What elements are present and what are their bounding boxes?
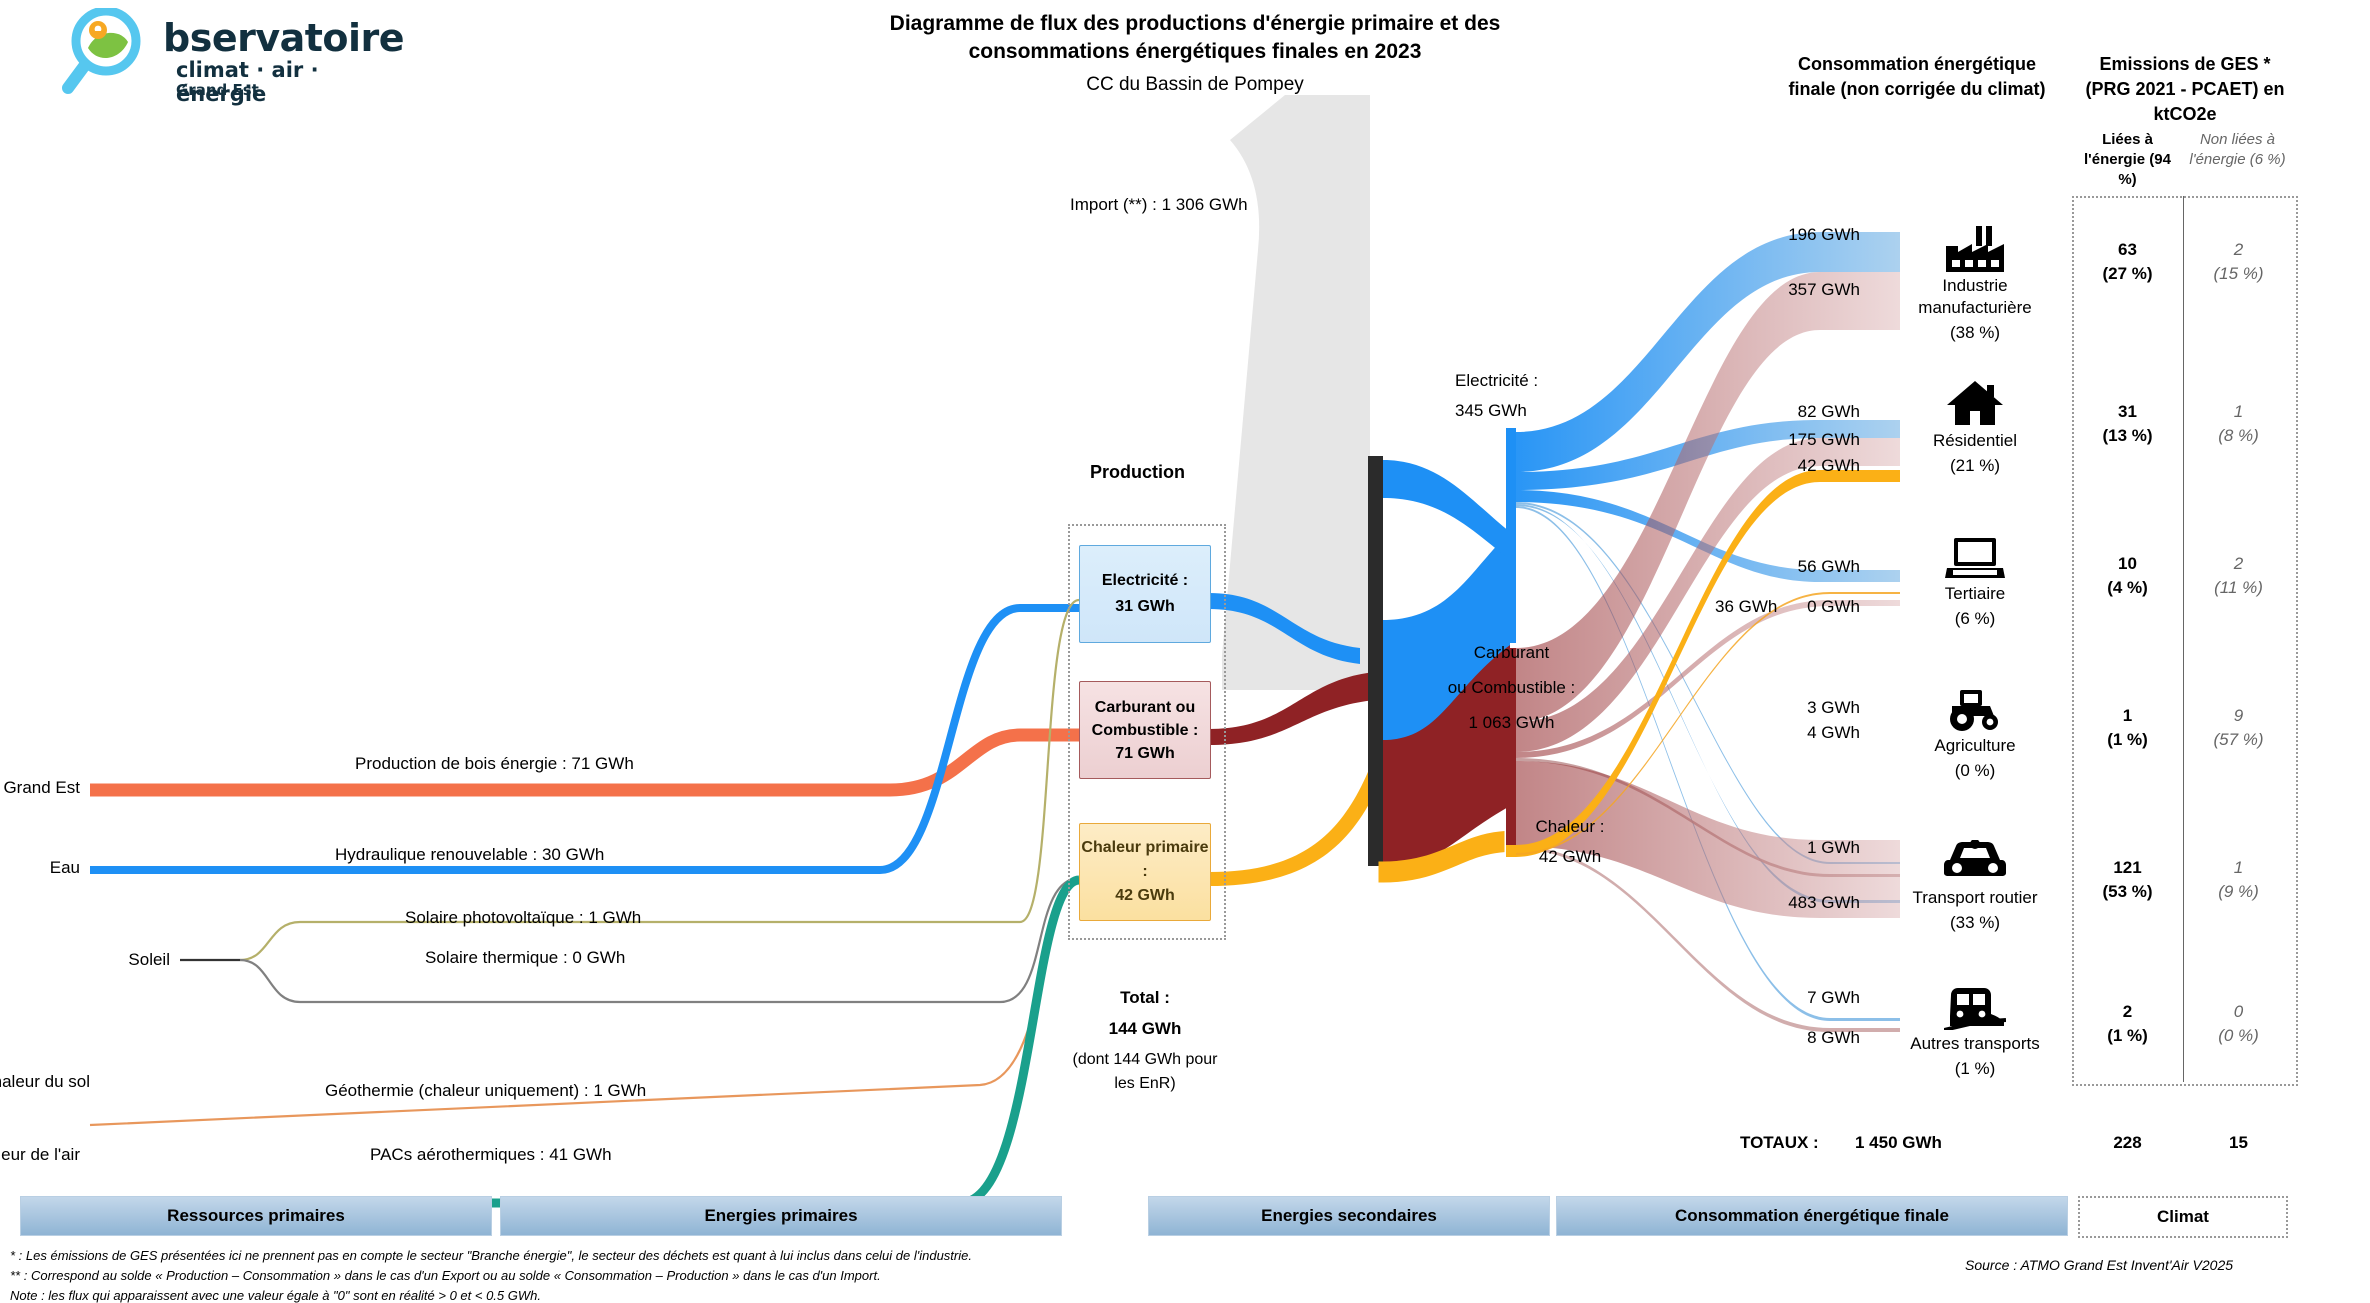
magnifier-logo-icon [58,8,158,100]
footnote-3: Note : les flux qui apparaissent avec un… [10,1288,541,1303]
value-tertiaire-chaleur: 0 GWh [1700,597,1860,617]
source-label-soleil: Soleil [0,950,170,970]
flow-label-solaire-thermique: Solaire thermique : 0 GWh [425,948,625,968]
ges-nonenergy-transport: 1 (9 %) [2186,856,2291,904]
ges-energy-industrie-value: 63 [2075,238,2180,262]
ges-energy-industrie-pct: (27 %) [2075,262,2180,286]
totaux-ges-energy: 228 [2075,1133,2180,1153]
ges-nonenergy-transport-value: 1 [2186,856,2291,880]
ges-nonenergy-agriculture-value: 9 [2186,704,2291,728]
sector-transport-routier-share: (33 %) [1895,912,2055,934]
value-residentiel-electricite: 82 GWh [1700,402,1860,422]
secondary-axis-bar [1368,456,1383,866]
ges-nonenergy-autres-pct: (0 %) [2186,1024,2291,1048]
ges-nonenergy-tertiaire: 2 (11 %) [2186,552,2291,600]
ges-nonenergy-tertiaire-pct: (11 %) [2186,576,2291,600]
secondary-carburant-value: 1 063 GWh [1404,705,1619,740]
value-autres-carburant: 8 GWh [1700,1028,1860,1048]
ges-nonenergy-agriculture: 9 (57 %) [2186,704,2291,752]
ges-nonenergy-agriculture-pct: (57 %) [2186,728,2291,752]
ges-nonenergy-residentiel-value: 1 [2186,400,2291,424]
ges-energy-agriculture: 1 (1 %) [2075,704,2180,752]
production-total: Total : 144 GWh (dont 144 GWh pour les E… [1065,982,1225,1096]
secondary-node-electricite-label: Electricité : 345 GWh [1455,366,1625,426]
ges-energy-tertiaire-pct: (4 %) [2075,576,2180,600]
production-box-chaleur-value: 42 GWh [1115,884,1175,908]
page-title: Diagramme de flux des productions d'éner… [885,10,1505,66]
ges-energy-tertiaire-value: 10 [2075,552,2180,576]
ges-energy-transport-value: 121 [2075,856,2180,880]
sector-autres-transports: Autres transports (1 %) [1895,978,2055,1080]
ges-energy-residentiel: 31 (13 %) [2075,400,2180,448]
ges-nonenergy-transport-pct: (9 %) [2186,880,2291,904]
totaux-energy-value: 1 450 GWh [1855,1133,1942,1153]
secondary-carburant-name2: ou Combustible : [1404,670,1619,705]
train-icon [1895,978,2055,1030]
value-residentiel-chaleur: 42 GWh [1700,456,1860,476]
flow-label-bois: Production de bois énergie : 71 GWh [355,754,634,774]
logo-region: Grand Est [176,81,259,99]
link-elec-autres [1516,506,1900,1021]
secondary-chaleur-name: Chaleur : [1490,812,1650,842]
ges-nonenergy-residentiel: 1 (8 %) [2186,400,2291,448]
legend-ressources-primaires[interactable]: Ressources primaires [20,1196,492,1236]
production-box-carburant-value: 71 GWh [1115,742,1175,765]
production-box-chaleur-label: Chaleur primaire : [1080,836,1210,884]
ges-table-divider [2183,196,2184,1082]
value-agriculture-electricite: 3 GWh [1700,698,1860,718]
production-box-carburant-label: Carburant ou Combustible : [1080,696,1210,742]
ges-table-border [2072,196,2298,1086]
legend-climat[interactable]: Climat [2078,1196,2288,1238]
flow-solaire-pv [240,600,1079,960]
factory-icon [1895,220,2055,272]
sector-agriculture-share: (0 %) [1895,760,2055,782]
ges-energy-residentiel-pct: (13 %) [2075,424,2180,448]
secondary-electricite-name: Electricité : [1455,366,1625,396]
ges-energy-industrie: 63 (27 %) [2075,238,2180,286]
production-box-electricite: Electricité : 31 GWh [1079,545,1211,643]
footnote-2: ** : Correspond au solde « Production – … [10,1268,881,1283]
value-autres-electricite: 7 GWh [1700,988,1860,1008]
footnote-1: * : Les émissions de GES présentées ici … [10,1248,972,1263]
value-agriculture-carburant: 4 GWh [1700,723,1860,743]
ges-energy-transport-pct: (53 %) [2075,880,2180,904]
import-label: Import (**) : 1 306 GWh [1070,195,1248,215]
value-industrie-electricite: 196 GWh [1700,225,1860,245]
production-title: Production [1090,462,1185,483]
value-residentiel-carburant: 175 GWh [1700,430,1860,450]
logo: bservatoire climat · air · énergie Grand… [58,8,358,98]
value-industrie-carburant: 357 GWh [1700,280,1860,300]
ges-energy-autres-value: 2 [2075,1000,2180,1024]
production-box-electricite-value: 31 GWh [1115,594,1175,620]
node-electricite [1506,428,1516,643]
ges-subheader-energy: Liées à l'énergie (94 %) [2075,130,2180,190]
laptop-icon [1895,528,2055,580]
production-total-label: Total : [1065,982,1225,1013]
secondary-electricite-value: 345 GWh [1455,396,1625,426]
ges-energy-autres: 2 (1 %) [2075,1000,2180,1048]
ges-nonenergy-autres-value: 0 [2186,1000,2291,1024]
ges-energy-autres-pct: (1 %) [2075,1024,2180,1048]
ges-nonenergy-autres: 0 (0 %) [2186,1000,2291,1048]
totaux-ges-nonenergy: 15 [2186,1133,2291,1153]
sector-residentiel: Résidentiel (21 %) [1895,375,2055,477]
secondary-carburant-name1: Carburant [1404,635,1619,670]
secondary-node-carburant-label: Carburant ou Combustible : 1 063 GWh [1404,635,1619,740]
ges-energy-transport: 121 (53 %) [2075,856,2180,904]
car-icon [1895,832,2055,884]
source-label-chaleur-air: Chaleur de l'air [0,1145,80,1165]
source-label-foret: Forêt Grand Est [0,778,80,798]
sector-transport-routier: Transport routier (33 %) [1895,832,2055,934]
flow-solaire-thermique [240,878,1079,1002]
secondary-chaleur-value: 42 GWh [1490,842,1650,872]
production-box-chaleur: Chaleur primaire : 42 GWh [1079,823,1211,921]
consumption-column-header: Consommation énergétique finale (non cor… [1782,52,2052,102]
band-electricite-top [1383,460,1510,560]
totaux-label: TOTAUX : [1740,1133,1819,1153]
ges-nonenergy-industrie: 2 (15 %) [2186,238,2291,286]
sector-residentiel-name: Résidentiel [1895,430,2055,452]
legend-energies-primaires[interactable]: Energies primaires [500,1196,1062,1236]
production-box-electricite-label: Electricité : [1102,568,1188,594]
value-transport-electricite: 1 GWh [1700,838,1860,858]
tractor-icon [1895,680,2055,732]
production-box-carburant: Carburant ou Combustible : 71 GWh [1079,681,1211,779]
sector-tertiaire: Tertiaire (6 %) [1895,528,2055,630]
value-transport-carburant: 483 GWh [1700,893,1860,913]
ges-energy-agriculture-value: 1 [2075,704,2180,728]
sector-transport-routier-name: Transport routier [1895,887,2055,909]
sector-tertiaire-name: Tertiaire [1895,583,2055,605]
ges-energy-agriculture-pct: (1 %) [2075,728,2180,752]
sector-industrie: Industrie manufacturière (38 %) [1895,220,2055,344]
logo-brand: bservatoire [163,16,404,60]
sector-tertiaire-share: (6 %) [1895,608,2055,630]
flow-label-hydraulique: Hydraulique renouvelable : 30 GWh [335,845,604,865]
ges-subheader-nonenergy: Non liées à l'énergie (6 %) [2185,130,2290,170]
flow-label-geothermie: Géothermie (chaleur uniquement) : 1 GWh [325,1081,646,1101]
sector-residentiel-share: (21 %) [1895,455,2055,477]
source-label-eau: Eau [0,858,80,878]
sector-autres-transports-name: Autres transports [1895,1033,2055,1055]
flow-label-pac: PACs aérothermiques : 41 GWh [370,1145,612,1165]
ges-nonenergy-tertiaire-value: 2 [2186,552,2291,576]
page-subtitle: CC du Bassin de Pompey [885,74,1505,96]
sector-agriculture-name: Agriculture [1895,735,2055,757]
source-label-chaleur-sol: Chaleur du sol [0,1072,90,1092]
house-icon [1895,375,2055,427]
ges-nonenergy-industrie-value: 2 [2186,238,2291,262]
flow-label-pv: Solaire photovoltaïque : 1 GWh [405,908,641,928]
legend-energies-secondaires[interactable]: Energies secondaires [1148,1196,1550,1236]
sector-agriculture: Agriculture (0 %) [1895,680,2055,782]
flow-hydraulique [90,608,1079,870]
ges-nonenergy-residentiel-pct: (8 %) [2186,424,2291,448]
ges-energy-residentiel-value: 31 [2075,400,2180,424]
value-tertiaire-electricite: 56 GWh [1700,557,1860,577]
legend-consommation-finale[interactable]: Consommation énergétique finale [1556,1196,2068,1236]
ges-column-header: Emissions de GES * (PRG 2021 - PCAET) en… [2080,52,2290,127]
sector-industrie-name: Industrie manufacturière [1895,275,2055,319]
production-total-value: 144 GWh [1065,1013,1225,1044]
secondary-node-chaleur-label: Chaleur : 42 GWh [1490,812,1650,872]
sector-industrie-share: (38 %) [1895,322,2055,344]
source-credit: Source : ATMO Grand Est Invent'Air V2025 [1965,1257,2233,1273]
sector-autres-transports-share: (1 %) [1895,1058,2055,1080]
production-enr-note: (dont 144 GWh pour les EnR) [1065,1048,1225,1096]
ges-nonenergy-industrie-pct: (15 %) [2186,262,2291,286]
ges-energy-tertiaire: 10 (4 %) [2075,552,2180,600]
